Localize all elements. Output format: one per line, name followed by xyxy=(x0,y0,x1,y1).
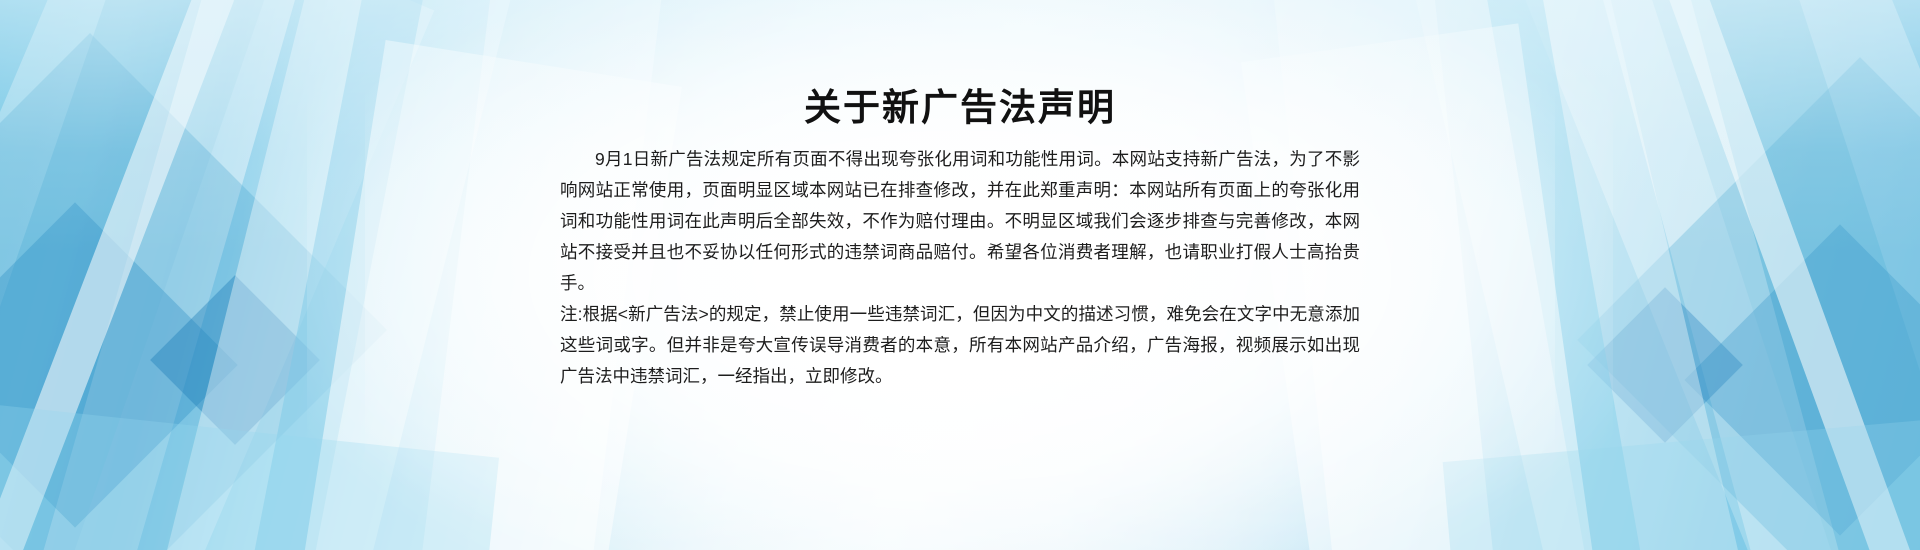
statement-paragraph-2: 注:根据<新广告法>的规定，禁止使用一些违禁词汇，但因为中文的描述习惯，难免会在… xyxy=(560,299,1360,392)
statement-paragraph-1: 9月1日新广告法规定所有页面不得出现夸张化用词和功能性用词。本网站支持新广告法，… xyxy=(560,144,1360,299)
statement-body: 9月1日新广告法规定所有页面不得出现夸张化用词和功能性用词。本网站支持新广告法，… xyxy=(560,144,1360,392)
page-title: 关于新广告法声明 xyxy=(560,86,1360,130)
statement-content: 关于新广告法声明 9月1日新广告法规定所有页面不得出现夸张化用词和功能性用词。本… xyxy=(560,0,1360,550)
advertising-law-statement-banner: 关于新广告法声明 9月1日新广告法规定所有页面不得出现夸张化用词和功能性用词。本… xyxy=(0,0,1920,550)
